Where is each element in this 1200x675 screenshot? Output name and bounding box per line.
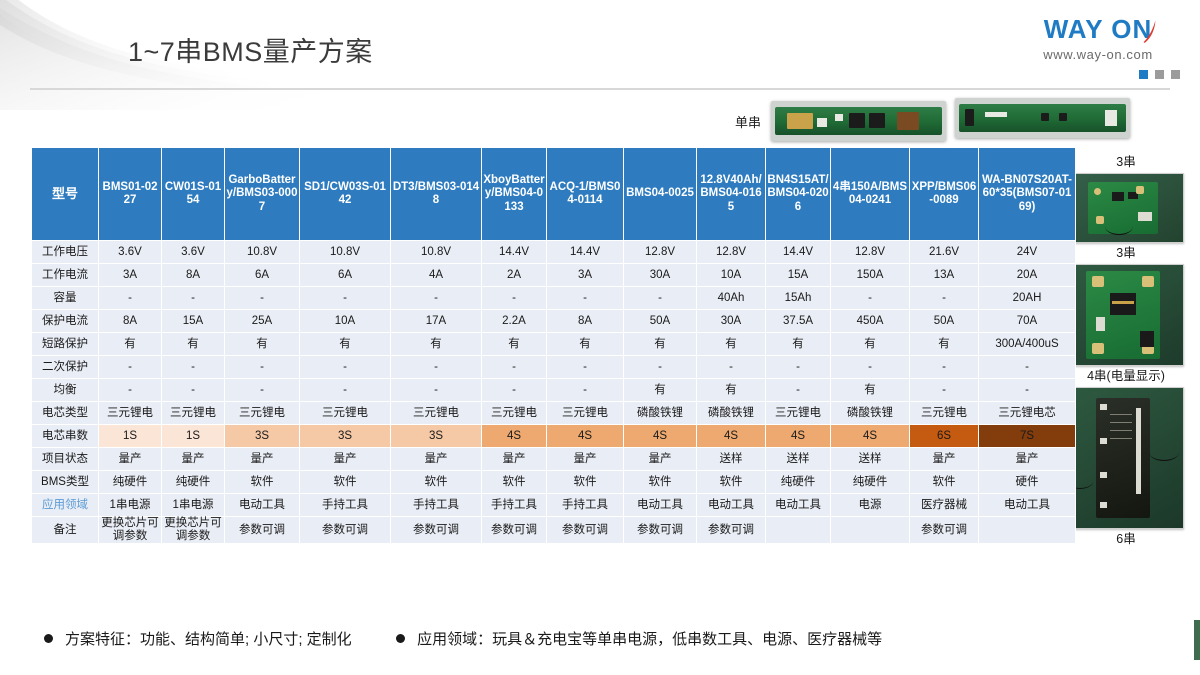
cell-r7-c3: 三元锂电 xyxy=(300,402,391,425)
pcb-photo-single-cell xyxy=(771,101,946,141)
cell-r11-c4: 手持工具 xyxy=(391,494,482,517)
single-cell-sample-strip: 单串 xyxy=(735,98,946,144)
cell-r10-c6: 软件 xyxy=(547,471,624,494)
cell-r0-c6: 14.4V xyxy=(547,241,624,264)
cell-r4-c10: 有 xyxy=(831,333,910,356)
cell-r7-c5: 三元锂电 xyxy=(482,402,547,425)
cell-r3-c10: 450A xyxy=(831,310,910,333)
cell-r11-c8: 电动工具 xyxy=(697,494,766,517)
cell-r3-c12: 70A xyxy=(979,310,1076,333)
column-header-2: GarboBattery/BMS03-0007 xyxy=(225,148,300,241)
cell-r4-c1: 有 xyxy=(162,333,225,356)
cell-r8-c6: 4S xyxy=(547,425,624,448)
cell-r7-c8: 磷酸铁锂 xyxy=(697,402,766,425)
bullet-text-1: 应用领域：玩具＆充电宝等单串电源，低串数工具、电源、医疗器械等 xyxy=(417,628,882,649)
photo-block-1: 3串 xyxy=(1062,173,1190,262)
logo-swipe-icon xyxy=(1135,17,1162,43)
cell-r12-c2: 参数可调 xyxy=(225,517,300,544)
title-divider xyxy=(30,88,1170,90)
logo-square-blue xyxy=(1139,70,1148,79)
cell-r3-c2: 25A xyxy=(225,310,300,333)
cell-r1-c2: 6A xyxy=(225,264,300,287)
single-cell-label: 单串 xyxy=(735,112,761,131)
cell-r12-c3: 参数可调 xyxy=(300,517,391,544)
cell-r8-c3: 3S xyxy=(300,425,391,448)
photo-caption-3: 6串 xyxy=(1062,529,1190,548)
cell-r4-c8: 有 xyxy=(697,333,766,356)
cell-r12-c9 xyxy=(766,517,831,544)
cell-r3-c9: 37.5A xyxy=(766,310,831,333)
cell-r1-c1: 8A xyxy=(162,264,225,287)
cell-r12-c0: 更换芯片可调参数 xyxy=(99,517,162,544)
column-header-6: ACQ-1/BMS04-0114 xyxy=(547,148,624,241)
cell-r7-c6: 三元锂电 xyxy=(547,402,624,425)
cell-r9-c7: 量产 xyxy=(624,448,697,471)
photo-caption-2: 4串(电量显示) xyxy=(1062,366,1190,385)
cell-r10-c8: 软件 xyxy=(697,471,766,494)
cell-r2-c1: - xyxy=(162,287,225,310)
cell-r10-c5: 软件 xyxy=(482,471,547,494)
cell-r9-c12: 量产 xyxy=(979,448,1076,471)
cell-r0-c1: 3.6V xyxy=(162,241,225,264)
cell-r9-c5: 量产 xyxy=(482,448,547,471)
row-label-8: 电芯串数 xyxy=(32,425,99,448)
cell-r11-c0: 1串电源 xyxy=(99,494,162,517)
cell-r8-c4: 3S xyxy=(391,425,482,448)
bullet-text-0: 方案特征：功能、结构简单; 小尺寸; 定制化 xyxy=(65,628,352,649)
cell-r0-c10: 12.8V xyxy=(831,241,910,264)
company-logo[interactable]: WAY ON www.way-on.com xyxy=(1010,16,1186,84)
cell-r10-c1: 纯硬件 xyxy=(162,471,225,494)
row-label-4: 短路保护 xyxy=(32,333,99,356)
cell-r8-c0: 1S xyxy=(99,425,162,448)
cell-r10-c11: 软件 xyxy=(910,471,979,494)
cell-r7-c2: 三元锂电 xyxy=(225,402,300,425)
cell-r5-c10: - xyxy=(831,356,910,379)
cell-r3-c11: 50A xyxy=(910,310,979,333)
cell-r0-c11: 21.6V xyxy=(910,241,979,264)
cell-r5-c12: - xyxy=(979,356,1076,379)
cell-r12-c12 xyxy=(979,517,1076,544)
right-edge-accent xyxy=(1194,620,1200,660)
cell-r1-c10: 150A xyxy=(831,264,910,287)
cell-r2-c12: 20AH xyxy=(979,287,1076,310)
column-header-5: XboyBattery/BMS04-0133 xyxy=(482,148,547,241)
table-corner-label: 型号 xyxy=(32,148,99,241)
table-row: 短路保护有有有有有有有有有有有有300A/400uS xyxy=(32,333,1076,356)
cell-r12-c6: 参数可调 xyxy=(547,517,624,544)
cell-r2-c6: - xyxy=(547,287,624,310)
cell-r3-c8: 30A xyxy=(697,310,766,333)
cell-r6-c4: - xyxy=(391,379,482,402)
cell-r9-c0: 量产 xyxy=(99,448,162,471)
cell-r10-c0: 纯硬件 xyxy=(99,471,162,494)
table-row: 工作电压3.6V3.6V10.8V10.8V10.8V14.4V14.4V12.… xyxy=(32,241,1076,264)
cell-r2-c4: - xyxy=(391,287,482,310)
cell-r12-c8: 参数可调 xyxy=(697,517,766,544)
logo-squares xyxy=(1010,66,1186,84)
logo-wordmark: WAY ON xyxy=(1044,16,1153,42)
cell-r10-c4: 软件 xyxy=(391,471,482,494)
cell-r8-c5: 4S xyxy=(482,425,547,448)
cell-r5-c5: - xyxy=(482,356,547,379)
cell-r6-c12: - xyxy=(979,379,1076,402)
cell-r3-c3: 10A xyxy=(300,310,391,333)
row-label-12: 备注 xyxy=(32,517,99,544)
cell-r6-c11: - xyxy=(910,379,979,402)
cell-r4-c3: 有 xyxy=(300,333,391,356)
cell-r6-c8: 有 xyxy=(697,379,766,402)
row-label-10: BMS类型 xyxy=(32,471,99,494)
cell-r5-c1: - xyxy=(162,356,225,379)
cell-r12-c11: 参数可调 xyxy=(910,517,979,544)
cell-r10-c10: 纯硬件 xyxy=(831,471,910,494)
column-header-12: WA-BN07S20AT-60*35(BMS07-0169) xyxy=(979,148,1076,241)
cell-r1-c3: 6A xyxy=(300,264,391,287)
cell-r5-c4: - xyxy=(391,356,482,379)
photo-block-0: 3串 xyxy=(1062,152,1190,171)
table-body: 工作电压3.6V3.6V10.8V10.8V10.8V14.4V14.4V12.… xyxy=(32,241,1076,544)
cell-r4-c12: 300A/400uS xyxy=(979,333,1076,356)
cell-r12-c1: 更换芯片可调参数 xyxy=(162,517,225,544)
cell-r6-c3: - xyxy=(300,379,391,402)
table-row: 项目状态量产量产量产量产量产量产量产量产送样送样送样量产量产 xyxy=(32,448,1076,471)
row-label-6: 均衡 xyxy=(32,379,99,402)
cell-r7-c12: 三元锂电芯 xyxy=(979,402,1076,425)
cell-r7-c9: 三元锂电 xyxy=(766,402,831,425)
cell-r9-c8: 送样 xyxy=(697,448,766,471)
cell-r2-c9: 15Ah xyxy=(766,287,831,310)
cell-r5-c0: - xyxy=(99,356,162,379)
row-label-3: 保护电流 xyxy=(32,310,99,333)
photo-caption-0: 3串 xyxy=(1062,152,1190,171)
column-header-4: DT3/BMS03-0148 xyxy=(391,148,482,241)
cell-r5-c7: - xyxy=(624,356,697,379)
cell-r9-c1: 量产 xyxy=(162,448,225,471)
cell-r4-c0: 有 xyxy=(99,333,162,356)
cell-r4-c9: 有 xyxy=(766,333,831,356)
column-header-11: XPP/BMS06-0089 xyxy=(910,148,979,241)
cell-r4-c2: 有 xyxy=(225,333,300,356)
cell-r8-c7: 4S xyxy=(624,425,697,448)
cell-r12-c4: 参数可调 xyxy=(391,517,482,544)
table-row: 均衡-------有有-有-- xyxy=(32,379,1076,402)
table-row: 容量--------40Ah15Ah--20AH xyxy=(32,287,1076,310)
cell-r3-c0: 8A xyxy=(99,310,162,333)
row-label-5: 二次保护 xyxy=(32,356,99,379)
column-header-3: SD1/CW03S-0142 xyxy=(300,148,391,241)
cell-r7-c1: 三元锂电 xyxy=(162,402,225,425)
bullet-item-1: 应用领域：玩具＆充电宝等单串电源，低串数工具、电源、医疗器械等 xyxy=(396,628,882,649)
cell-r7-c10: 磷酸铁锂 xyxy=(831,402,910,425)
cell-r8-c8: 4S xyxy=(697,425,766,448)
cell-r9-c3: 量产 xyxy=(300,448,391,471)
cell-r4-c5: 有 xyxy=(482,333,547,356)
cell-r6-c7: 有 xyxy=(624,379,697,402)
cell-r8-c12: 7S xyxy=(979,425,1076,448)
bullet-item-0: 方案特征：功能、结构简单; 小尺寸; 定制化 xyxy=(44,628,352,649)
cell-r4-c4: 有 xyxy=(391,333,482,356)
cell-r0-c2: 10.8V xyxy=(225,241,300,264)
table-row: 工作电流3A8A6A6A4A2A3A30A10A15A150A13A20A xyxy=(32,264,1076,287)
cell-r2-c3: - xyxy=(300,287,391,310)
table-row: 备注更换芯片可调参数更换芯片可调参数参数可调参数可调参数可调参数可调参数可调参数… xyxy=(32,517,1076,544)
cell-r11-c9: 电动工具 xyxy=(766,494,831,517)
cell-r1-c5: 2A xyxy=(482,264,547,287)
cell-r9-c4: 量产 xyxy=(391,448,482,471)
cell-r9-c11: 量产 xyxy=(910,448,979,471)
cell-r8-c10: 4S xyxy=(831,425,910,448)
logo-square-gray-1 xyxy=(1155,70,1164,79)
cell-r0-c7: 12.8V xyxy=(624,241,697,264)
cell-r1-c7: 30A xyxy=(624,264,697,287)
cell-r0-c4: 10.8V xyxy=(391,241,482,264)
row-label-7: 电芯类型 xyxy=(32,402,99,425)
cell-r2-c7: - xyxy=(624,287,697,310)
cell-r11-c7: 电动工具 xyxy=(624,494,697,517)
logo-website-url: www.way-on.com xyxy=(1010,47,1186,62)
photo-image-3 xyxy=(1062,387,1184,529)
cell-r11-c1: 1串电源 xyxy=(162,494,225,517)
cell-r3-c1: 15A xyxy=(162,310,225,333)
cell-r2-c0: - xyxy=(99,287,162,310)
column-header-10: 4串150A/BMS04-0241 xyxy=(831,148,910,241)
pcb-photo-3s-strip-top xyxy=(955,98,1130,138)
cell-r2-c11: - xyxy=(910,287,979,310)
cell-r5-c8: - xyxy=(697,356,766,379)
cell-r12-c7: 参数可调 xyxy=(624,517,697,544)
cell-r8-c1: 1S xyxy=(162,425,225,448)
cell-r5-c3: - xyxy=(300,356,391,379)
bullet-list: 方案特征：功能、结构简单; 小尺寸; 定制化 应用领域：玩具＆充电宝等单串电源，… xyxy=(44,628,1184,658)
photo-block-3: 6串 xyxy=(1062,387,1190,548)
page-title: 1~7串BMS量产方案 xyxy=(128,30,373,69)
cell-r1-c11: 13A xyxy=(910,264,979,287)
cell-r7-c0: 三元锂电 xyxy=(99,402,162,425)
cell-r2-c2: - xyxy=(225,287,300,310)
cell-r8-c11: 6S xyxy=(910,425,979,448)
cell-r0-c0: 3.6V xyxy=(99,241,162,264)
photo-image-2 xyxy=(1062,264,1184,366)
cell-r11-c12: 电动工具 xyxy=(979,494,1076,517)
column-header-1: CW01S-0154 xyxy=(162,148,225,241)
cell-r1-c12: 20A xyxy=(979,264,1076,287)
cell-r0-c5: 14.4V xyxy=(482,241,547,264)
cell-r2-c10: - xyxy=(831,287,910,310)
bms-spec-table: 型号 BMS01-0227 CW01S-0154 GarboBattery/BM… xyxy=(31,147,1076,544)
table-row: BMS类型纯硬件纯硬件软件软件软件软件软件软件软件纯硬件纯硬件软件硬件 xyxy=(32,471,1076,494)
cell-r4-c7: 有 xyxy=(624,333,697,356)
cell-r0-c12: 24V xyxy=(979,241,1076,264)
cell-r8-c2: 3S xyxy=(225,425,300,448)
row-label-11: 应用领域 xyxy=(32,494,99,517)
cell-r1-c9: 15A xyxy=(766,264,831,287)
cell-r6-c10: 有 xyxy=(831,379,910,402)
cell-r0-c9: 14.4V xyxy=(766,241,831,264)
cell-r6-c1: - xyxy=(162,379,225,402)
cell-r7-c4: 三元锂电 xyxy=(391,402,482,425)
bullet-dot-icon-0 xyxy=(44,634,53,643)
cell-r10-c12: 硬件 xyxy=(979,471,1076,494)
row-label-2: 容量 xyxy=(32,287,99,310)
cell-r4-c6: 有 xyxy=(547,333,624,356)
cell-r2-c5: - xyxy=(482,287,547,310)
table-row: 应用领域1串电源1串电源电动工具手持工具手持工具手持工具手持工具电动工具电动工具… xyxy=(32,494,1076,517)
cell-r9-c9: 送样 xyxy=(766,448,831,471)
photo-caption-1: 3串 xyxy=(1062,243,1190,262)
table-row: 电芯类型三元锂电三元锂电三元锂电三元锂电三元锂电三元锂电三元锂电磷酸铁锂磷酸铁锂… xyxy=(32,402,1076,425)
cell-r2-c8: 40Ah xyxy=(697,287,766,310)
cell-r6-c6: - xyxy=(547,379,624,402)
table-header-row: 型号 BMS01-0227 CW01S-0154 GarboBattery/BM… xyxy=(32,148,1076,241)
cell-r11-c2: 电动工具 xyxy=(225,494,300,517)
cell-r6-c9: - xyxy=(766,379,831,402)
cell-r1-c8: 10A xyxy=(697,264,766,287)
cell-r11-c5: 手持工具 xyxy=(482,494,547,517)
cell-r10-c2: 软件 xyxy=(225,471,300,494)
sample-photo-column: 3串 3串 xyxy=(1062,152,1190,550)
cell-r11-c11: 医疗器械 xyxy=(910,494,979,517)
table-row: 二次保护------------- xyxy=(32,356,1076,379)
cell-r9-c10: 送样 xyxy=(831,448,910,471)
cell-r5-c9: - xyxy=(766,356,831,379)
table-row: 保护电流8A15A25A10A17A2.2A8A50A30A37.5A450A5… xyxy=(32,310,1076,333)
cell-r0-c3: 10.8V xyxy=(300,241,391,264)
cell-r3-c6: 8A xyxy=(547,310,624,333)
cell-r11-c6: 手持工具 xyxy=(547,494,624,517)
cell-r3-c7: 50A xyxy=(624,310,697,333)
cell-r12-c10 xyxy=(831,517,910,544)
cell-r3-c4: 17A xyxy=(391,310,482,333)
logo-square-gray-2 xyxy=(1171,70,1180,79)
column-header-7: BMS04-0025 xyxy=(624,148,697,241)
photo-image-1 xyxy=(1062,173,1184,243)
cell-r10-c9: 纯硬件 xyxy=(766,471,831,494)
column-header-9: BN4S15AT/BMS04-0206 xyxy=(766,148,831,241)
cell-r11-c10: 电源 xyxy=(831,494,910,517)
cell-r9-c6: 量产 xyxy=(547,448,624,471)
cell-r8-c9: 4S xyxy=(766,425,831,448)
column-header-8: 12.8V40Ah/BMS04-0165 xyxy=(697,148,766,241)
cell-r3-c5: 2.2A xyxy=(482,310,547,333)
cell-r6-c0: - xyxy=(99,379,162,402)
cell-r9-c2: 量产 xyxy=(225,448,300,471)
cell-r11-c3: 手持工具 xyxy=(300,494,391,517)
cell-r6-c5: - xyxy=(482,379,547,402)
cell-r6-c2: - xyxy=(225,379,300,402)
cell-r5-c6: - xyxy=(547,356,624,379)
cell-r1-c6: 3A xyxy=(547,264,624,287)
table-row: 电芯串数1S1S3S3S3S4S4S4S4S4S4S6S7S xyxy=(32,425,1076,448)
cell-r1-c0: 3A xyxy=(99,264,162,287)
cell-r10-c7: 软件 xyxy=(624,471,697,494)
cell-r5-c11: - xyxy=(910,356,979,379)
cell-r5-c2: - xyxy=(225,356,300,379)
cell-r12-c5: 参数可调 xyxy=(482,517,547,544)
cell-r7-c11: 三元锂电 xyxy=(910,402,979,425)
cell-r1-c4: 4A xyxy=(391,264,482,287)
cell-r4-c11: 有 xyxy=(910,333,979,356)
bullet-dot-icon-1 xyxy=(396,634,405,643)
row-label-1: 工作电流 xyxy=(32,264,99,287)
row-label-9: 项目状态 xyxy=(32,448,99,471)
photo-block-2: 4串(电量显示) xyxy=(1062,264,1190,385)
cell-r0-c8: 12.8V xyxy=(697,241,766,264)
column-header-0: BMS01-0227 xyxy=(99,148,162,241)
cell-r7-c7: 磷酸铁锂 xyxy=(624,402,697,425)
cell-r10-c3: 软件 xyxy=(300,471,391,494)
row-label-0: 工作电压 xyxy=(32,241,99,264)
